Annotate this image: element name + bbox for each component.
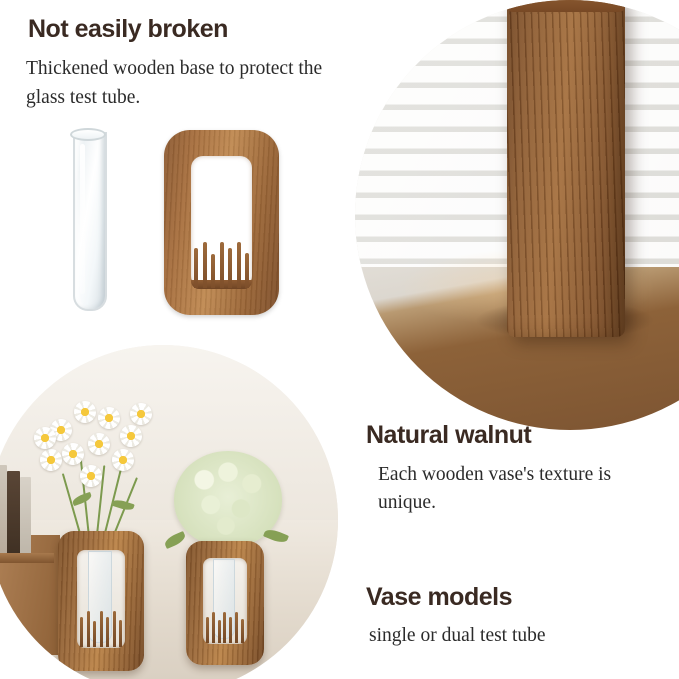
vase-slat — [106, 617, 109, 647]
frame-slat — [194, 248, 198, 288]
wooden-frame-single — [164, 130, 279, 315]
test-tube-highlight — [80, 144, 85, 294]
book — [20, 477, 31, 557]
walnut-block-top-face — [507, 0, 625, 12]
daisy-flower — [98, 407, 120, 429]
daisy-flower — [40, 449, 62, 471]
frame-slat — [245, 253, 249, 288]
glass-test-tube — [70, 124, 106, 309]
vase-slat — [100, 611, 103, 647]
vase-dual-tube — [58, 531, 144, 671]
frame-slat — [228, 248, 232, 288]
daisy-flower — [34, 427, 56, 449]
vase-models-subtitle: single or dual test tube — [369, 622, 659, 650]
vase-slat — [241, 619, 244, 643]
book-shelf-top — [0, 553, 54, 563]
daisy-flower — [130, 403, 152, 425]
frame-slat — [220, 242, 224, 288]
vase-slat — [229, 617, 232, 643]
vase-slat — [119, 620, 122, 647]
not-easily-broken-title: Not easily broken — [28, 14, 228, 44]
product-parts-photo — [14, 110, 354, 325]
natural-walnut-title: Natural walnut — [366, 420, 531, 450]
test-tube-rim — [70, 128, 106, 141]
natural-walnut-subtitle: Each wooden vase's texture is unique. — [378, 461, 668, 517]
vase-slat — [80, 617, 83, 647]
daisy-flower — [112, 449, 134, 471]
vase-slats — [206, 611, 244, 643]
frame-slat — [237, 242, 241, 288]
book — [0, 465, 7, 557]
frame-slats — [194, 240, 249, 288]
daisy-flower — [120, 425, 142, 447]
styled-scene-photo — [0, 345, 338, 679]
daisy-flower — [88, 433, 110, 455]
vase-models-title: Vase models — [366, 582, 512, 612]
daisy-flower — [62, 443, 84, 465]
frame-slat — [203, 242, 207, 288]
vase-slat — [218, 620, 221, 643]
walnut-closeup-photo — [355, 0, 679, 430]
vase-single-tube — [186, 541, 264, 665]
vase-slat — [206, 617, 209, 643]
vase-slat — [113, 611, 116, 647]
vase-slat — [87, 611, 90, 647]
frame-slat — [211, 254, 215, 288]
daisy-flower — [74, 401, 96, 423]
vase-slat — [223, 612, 226, 643]
book — [7, 471, 20, 557]
vase-slat — [235, 612, 238, 643]
vase-slats — [80, 609, 122, 647]
vase-slat — [93, 621, 96, 647]
walnut-block — [507, 0, 625, 337]
daisy-flower — [80, 465, 102, 487]
vase-slat — [212, 612, 215, 643]
product-infographic: Not easily broken Thickened wooden base … — [0, 0, 679, 679]
not-easily-broken-subtitle: Thickened wooden base to protect the gla… — [26, 54, 356, 112]
test-tube-body — [73, 132, 107, 311]
